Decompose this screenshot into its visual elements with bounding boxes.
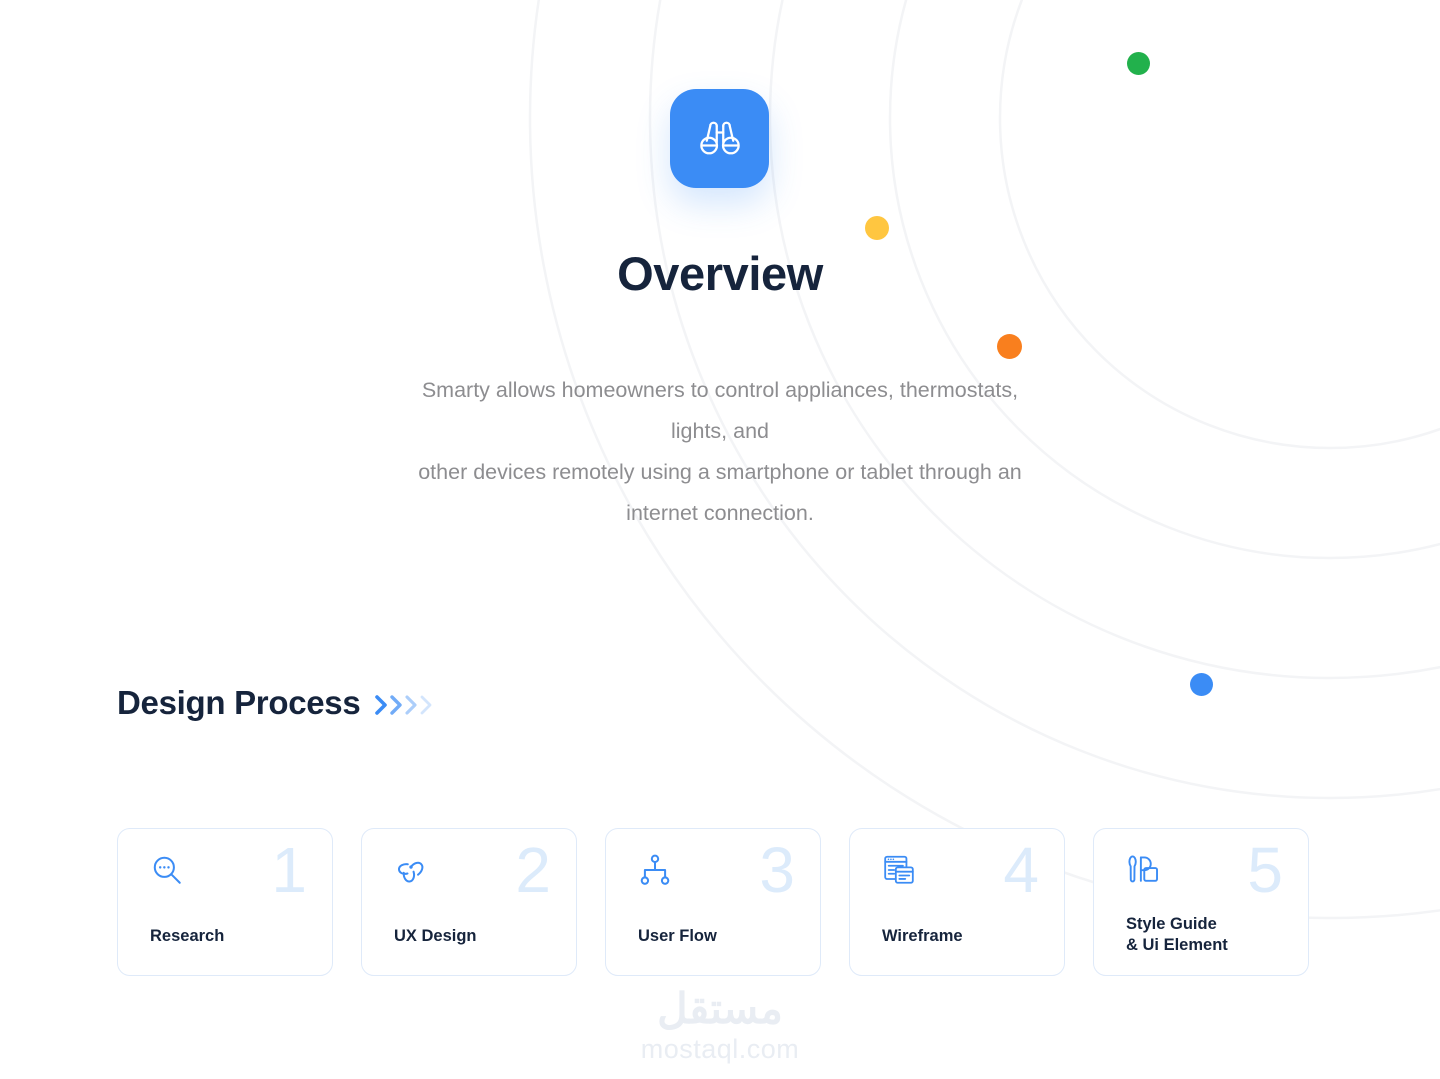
card-label: Research — [150, 926, 224, 947]
design-process-cards: 1 Research 2 UX Design 3 User — [117, 828, 1309, 976]
process-card-research[interactable]: 1 Research — [117, 828, 333, 976]
binoculars-icon — [694, 113, 746, 165]
app-logo — [670, 89, 769, 188]
process-card-user-flow[interactable]: 3 User Flow — [605, 828, 821, 976]
sitemap-icon — [638, 853, 672, 887]
card-number: 2 — [515, 835, 550, 905]
card-label: User Flow — [638, 926, 717, 947]
orange-dot — [997, 334, 1022, 359]
yellow-dot — [865, 216, 889, 240]
card-number: 3 — [759, 835, 794, 905]
card-number: 1 — [271, 835, 306, 905]
card-label: UX Design — [394, 926, 477, 947]
card-label: Wireframe — [882, 926, 963, 947]
blue-dot — [1190, 673, 1213, 696]
trefoil-knot-icon — [394, 853, 428, 887]
overview-description: Smarty allows homeowners to control appl… — [270, 370, 1170, 534]
page-title: Overview — [0, 248, 1440, 300]
process-card-wireframe[interactable]: 4 Wireframe — [849, 828, 1065, 976]
overview-slide: Overview Smarty allows homeowners to con… — [0, 0, 1440, 1079]
card-label: Style Guide & Ui Element — [1126, 914, 1228, 956]
pen-shapes-icon — [1126, 853, 1160, 887]
ring-3 — [770, 0, 1440, 678]
card-number: 4 — [1003, 835, 1038, 905]
search-dots-icon — [150, 853, 184, 887]
green-dot — [1127, 52, 1150, 75]
process-card-ux-design[interactable]: 2 UX Design — [361, 828, 577, 976]
watermark-latin: mostaql.com — [0, 1033, 1440, 1065]
browser-windows-icon — [882, 853, 916, 887]
design-process-title: Design Process — [117, 684, 360, 722]
card-number: 5 — [1247, 835, 1282, 905]
process-card-style-guide[interactable]: 5 Style Guide & Ui Element — [1093, 828, 1309, 976]
watermark-arabic: مستقل — [0, 985, 1440, 1033]
watermark: مستقل mostaql.com — [0, 985, 1440, 1065]
chevron-group — [378, 690, 438, 720]
chevron-right-icon — [416, 690, 438, 720]
design-process-heading: Design Process — [117, 684, 438, 722]
